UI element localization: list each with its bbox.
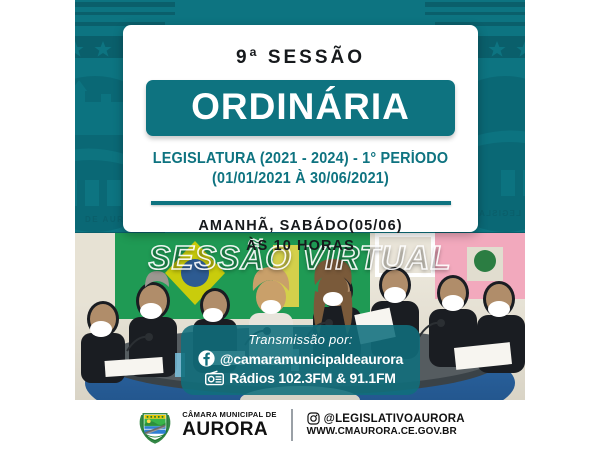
session-type-wrap: ORDINÁRIA <box>123 80 478 136</box>
poster-canvas: DE AURORA <box>75 0 525 450</box>
schedule-line-1: AMANHÃ, SABÁDO(05/06) <box>123 216 478 236</box>
poster: DE AURORA <box>0 0 600 450</box>
radio-icon <box>205 370 224 386</box>
footer-bar: CÂMARA MUNICIPAL DE AURORA @LEGISLATIVOA… <box>75 400 525 450</box>
transmission-box: Transmissão por: @camaramunicipaldeauror… <box>181 325 420 395</box>
brand-text: CÂMARA MUNICIPAL DE AURORA <box>182 411 276 439</box>
brand-subtitle: CÂMARA MUNICIPAL DE <box>182 411 276 419</box>
instagram-handle: @LEGISLATIVOAURORA <box>324 412 465 426</box>
aurora-coat-of-arms-icon <box>135 405 175 445</box>
schedule-info: AMANHÃ, SABÁDO(05/06) ÀS 10 HORAS <box>123 216 478 256</box>
footer-divider <box>291 409 293 441</box>
brand-title: AURORA <box>182 420 276 439</box>
legislature-info: LEGISLATURA (2021 - 2024) - 1° PERÍODO (… <box>135 149 465 189</box>
instagram-icon <box>307 412 320 425</box>
legislature-line-1: LEGISLATURA (2021 - 2024) - 1° PERÍODO <box>135 149 465 169</box>
legislature-line-2: (01/01/2021 À 30/06/2021) <box>135 169 465 189</box>
session-number: 9ª SESSÃO <box>123 47 478 69</box>
transmission-label: Transmissão por: <box>181 332 420 347</box>
radio-stations: Rádios 102.3FM & 91.1FM <box>229 370 396 386</box>
brand-block: CÂMARA MUNICIPAL DE AURORA <box>135 405 276 445</box>
website-url: WWW.CMAURORA.CE.GOV.BR <box>307 426 465 439</box>
instagram-row[interactable]: @LEGISLATIVOAURORA <box>307 412 465 426</box>
transmission-facebook-row[interactable]: @camaramunicipaldeaurora <box>181 350 420 367</box>
divider <box>151 201 451 205</box>
facebook-icon <box>198 350 215 367</box>
contact-block: @LEGISLATIVOAURORA WWW.CMAURORA.CE.GOV.B… <box>307 412 465 439</box>
session-type-badge: ORDINÁRIA <box>146 80 455 136</box>
facebook-handle: @camaramunicipaldeaurora <box>220 351 403 367</box>
transmission-radio-row[interactable]: Rádios 102.3FM & 91.1FM <box>181 370 420 386</box>
schedule-line-2: ÀS 10 HORAS <box>123 236 478 256</box>
info-card: 9ª SESSÃO ORDINÁRIA LEGISLATURA (2021 - … <box>123 25 478 232</box>
